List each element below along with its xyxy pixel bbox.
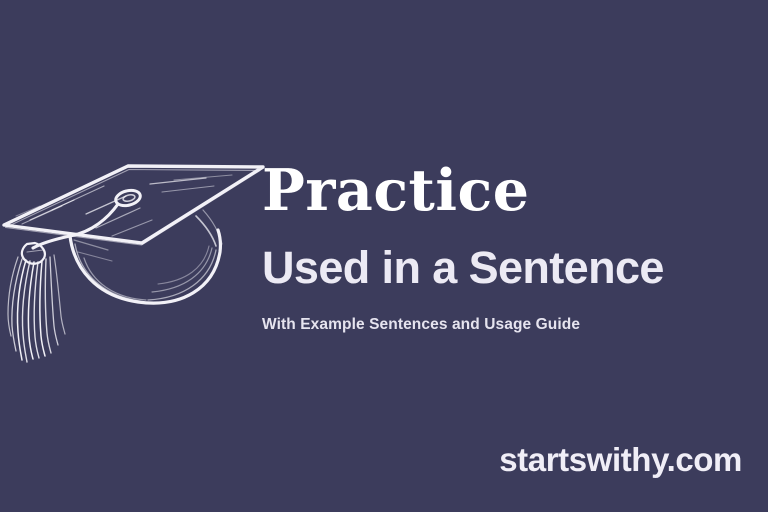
word-title: Practice	[262, 160, 762, 222]
headline-block: Practice Used in a Sentence With Example…	[262, 160, 762, 335]
graduation-cap-icon	[0, 140, 272, 370]
brand-domain: startswithy.com	[499, 442, 742, 478]
subtitle: With Example Sentences and Usage Guide	[262, 315, 762, 335]
page-title: Used in a Sentence	[262, 242, 762, 294]
social-share-card: Practice Used in a Sentence With Example…	[0, 0, 768, 512]
